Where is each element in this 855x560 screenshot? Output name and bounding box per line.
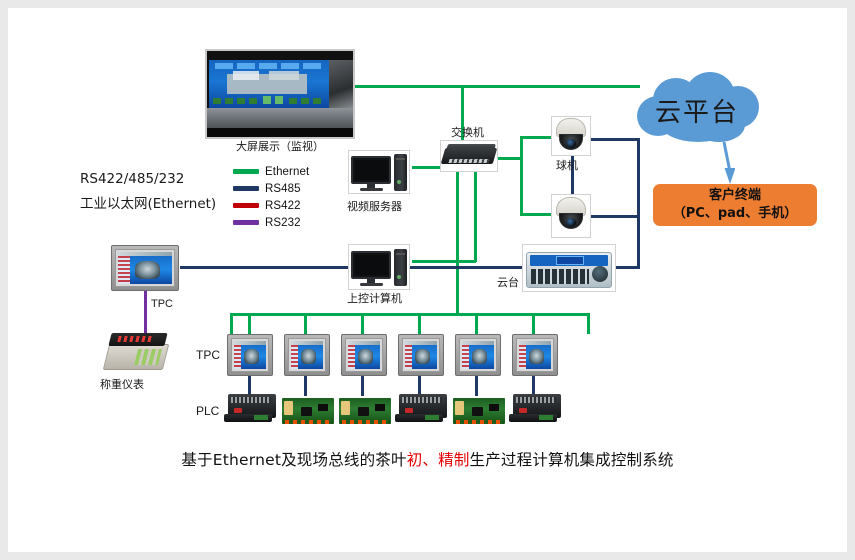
legend-swatch-ethernet-icon — [233, 169, 259, 174]
weighing-scale-label: 称重仪表 — [100, 378, 144, 391]
tpc-left-label: TPC — [151, 298, 173, 311]
field-tpc-3 — [341, 334, 387, 376]
wire-rs232-tpc-scale — [144, 291, 147, 336]
cloud-platform-icon: 云平台 — [633, 70, 761, 146]
client-terminal-line1: 客户终端 — [709, 187, 761, 205]
legend-label-rs232: RS232 — [265, 217, 301, 229]
wire-ethernet-switch-down-left — [456, 170, 459, 313]
field-plc-4 — [395, 394, 447, 422]
field-tpc-1 — [227, 334, 273, 376]
field-tpc-4 — [398, 334, 444, 376]
field-plc-6 — [509, 394, 561, 422]
video-wall-pane-right — [329, 60, 355, 108]
wire-ethernet-drop-2 — [304, 313, 307, 334]
dome-camera-icon — [554, 118, 588, 156]
tpc-left-panel — [111, 245, 179, 291]
wire-ethernet-drop-1 — [248, 313, 251, 334]
wire-ethernet-drop-4 — [418, 313, 421, 334]
wire-ethernet-drop-5 — [475, 313, 478, 334]
field-plc-5 — [453, 398, 505, 424]
legend-item-rs485: RS485 — [233, 180, 309, 197]
host-computer-frame — [348, 244, 410, 290]
video-wall-display — [205, 49, 355, 139]
legend-swatch-rs485-icon — [233, 186, 259, 191]
wire-ethernet-field-trunk — [230, 313, 590, 316]
wire-rs485-tpc-plc-3 — [361, 376, 364, 396]
wire-rs485-tpc-plc-1 — [248, 376, 251, 396]
camera-bottom-frame — [551, 194, 591, 238]
video-wall-label: 大屏展示（监视） — [236, 140, 324, 153]
legend-item-ethernet: Ethernet — [233, 163, 309, 180]
legend-label-rs485: RS485 — [265, 183, 301, 195]
legend-item-rs422: RS422 — [233, 197, 309, 214]
diagram-caption: 基于Ethernet及现场总线的茶叶初、精制生产过程计算机集成控制系统 — [8, 448, 847, 470]
diagram-canvas: 大屏展示（监视） RS422/485/232 工业以太网(Ethernet) E… — [8, 8, 847, 552]
wire-ethernet-trunk-left-end — [230, 313, 233, 334]
video-wall-frame-bottom — [207, 128, 353, 139]
caption-part-1: 基于Ethernet及现场总线的茶叶 — [181, 451, 406, 469]
video-wall-pane-bottom — [207, 108, 353, 128]
wire-ethernet-camera-riser — [520, 136, 523, 216]
client-terminal-box[interactable]: 客户终端 （PC、pad、手机） — [653, 184, 817, 226]
wire-ethernet-drop-6 — [532, 313, 535, 334]
weighing-scale-icon — [106, 333, 168, 375]
wire-rs485-tpc-plc-6 — [532, 376, 535, 396]
caption-part-2: 生产过程计算机集成控制系统 — [470, 451, 674, 469]
wire-rs485-right-riser — [637, 138, 640, 269]
field-plc-3 — [339, 398, 391, 424]
label-bus-types: RS422/485/232 — [80, 171, 184, 187]
wire-rs485-tpc-plc-5 — [475, 376, 478, 396]
cloud-to-client-arrow-icon — [721, 142, 735, 186]
wire-ethernet-top-trunk — [355, 85, 640, 88]
legend-label-ethernet: Ethernet — [265, 166, 309, 178]
video-server-label: 视频服务器 — [347, 200, 402, 213]
camera-label: 球机 — [556, 159, 578, 172]
dome-camera-icon — [554, 197, 588, 235]
legend-item-rs232: RS232 — [233, 214, 309, 231]
row-label-tpc: TPC — [196, 348, 220, 362]
ptz-keyboard-icon — [526, 248, 612, 290]
wire-ethernet-hostpc-to-trunk — [412, 260, 476, 263]
wire-rs485-tpc-plc-4 — [418, 376, 421, 396]
wire-ethernet-trunk-right-end — [587, 313, 590, 334]
row-label-plc: PLC — [196, 404, 219, 418]
legend-swatch-rs422-icon — [233, 203, 259, 208]
client-terminal-line2: （PC、pad、手机） — [673, 205, 797, 223]
caption-highlight-1: 初、 — [407, 451, 438, 469]
legend-swatch-rs232-icon — [233, 220, 259, 225]
video-wall-pane-main — [209, 60, 329, 108]
field-plc-2 — [282, 398, 334, 424]
wire-rs485-tpc-plc-2 — [304, 376, 307, 396]
field-tpc-6 — [512, 334, 558, 376]
camera-top-frame — [551, 116, 591, 156]
field-plc-1 — [224, 394, 276, 422]
wire-ethernet-switch-down-right — [474, 170, 477, 262]
ptz-label: 云台 — [497, 276, 519, 289]
network-switch-icon — [443, 142, 495, 172]
field-tpc-2 — [284, 334, 330, 376]
cloud-platform-label: 云平台 — [633, 92, 761, 129]
video-server-frame — [348, 150, 410, 194]
wire-ethernet-drop-3 — [361, 313, 364, 334]
diagram-page: 大屏展示（监视） RS422/485/232 工业以太网(Ethernet) E… — [0, 0, 855, 560]
label-industrial-ethernet: 工业以太网(Ethernet) — [80, 196, 216, 212]
caption-highlight-2: 精制 — [438, 451, 469, 469]
legend-label-rs422: RS422 — [265, 200, 301, 212]
host-computer-label: 上控计算机 — [347, 292, 402, 305]
field-tpc-5 — [455, 334, 501, 376]
legend: Ethernet RS485 RS422 RS232 — [233, 163, 309, 231]
switch-label: 交换机 — [451, 126, 484, 139]
